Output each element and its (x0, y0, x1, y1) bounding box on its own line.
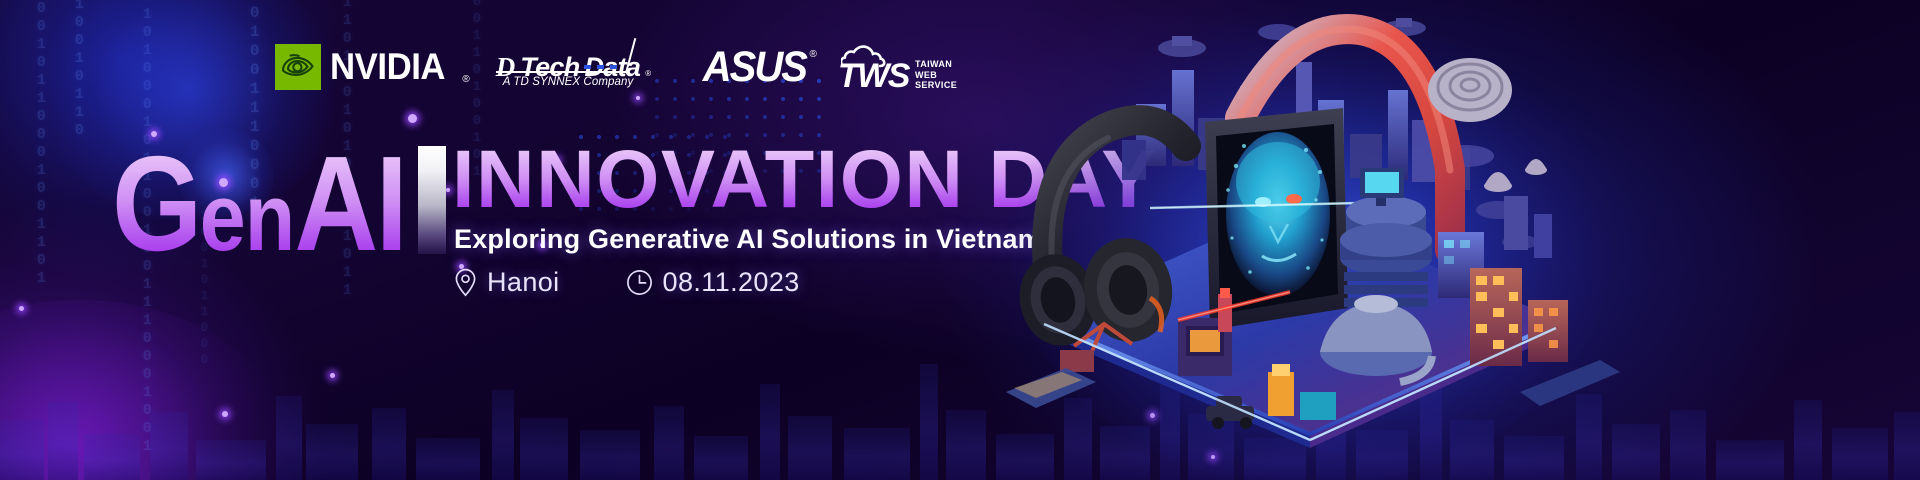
techdata-registered-mark: ® (645, 69, 651, 78)
genai-lead: G (112, 128, 200, 279)
techdata-underline (496, 71, 627, 73)
genai-brand-title: GenAI (112, 138, 405, 270)
glow-particle (19, 306, 24, 311)
genai-trail: AI (294, 128, 405, 279)
techdata-logo[interactable]: D Tech Data ® A TD SYNNEX Company (496, 38, 646, 96)
event-location: Hanoi (454, 267, 560, 298)
ai-diorama-illustration (1000, 0, 1620, 480)
genai-innovation-day-banner: 1001011000100110100100101100110100010110… (0, 0, 1920, 480)
techdata-tagline: A TD SYNNEX Company (503, 76, 634, 88)
nvidia-registered-mark: ® (462, 74, 469, 85)
date-label: 08.11.2023 (663, 267, 800, 298)
tws-tagline-line3: SERVICE (915, 80, 957, 91)
techdata-square-1 (584, 65, 591, 69)
cloud-icon (841, 42, 899, 68)
techdata-square-2 (597, 65, 604, 69)
glow-particle (330, 373, 335, 378)
techdata-square-3 (610, 65, 617, 69)
nvidia-wordmark: NVIDIA (330, 46, 445, 88)
tws-tagline: TAIWAN WEB SERVICE (915, 59, 957, 91)
binary-code-column: 10010110001001101 (34, 0, 48, 288)
map-pin-icon (454, 268, 477, 297)
asus-registered-mark: ® (810, 49, 817, 60)
asus-wordmark: ASUS (703, 43, 806, 91)
city-skyline-silhouette (0, 350, 1920, 480)
headline-group: GenAI (112, 138, 453, 270)
tws-logo[interactable]: TWS TAIWAN WEB SERVICE (838, 40, 957, 94)
event-date: 08.11.2023 (626, 267, 800, 298)
clock-icon (626, 269, 653, 296)
title-divider-bar (418, 146, 446, 254)
binary-code-column: 0010010110 (72, 0, 86, 140)
location-label: Hanoi (487, 267, 560, 298)
genai-small-caps: en (200, 164, 295, 271)
tws-tagline-line1: TAIWAN (915, 59, 957, 70)
tws-tagline-line2: WEB (915, 70, 957, 81)
asus-logo[interactable]: ASUS ® (703, 45, 806, 90)
glow-particle (408, 114, 417, 123)
nvidia-eye-icon (275, 44, 321, 90)
partner-logo-row: NVIDIA ® D Tech Data ® A TD SYNNEX Compa… (275, 36, 957, 98)
nvidia-logo[interactable]: NVIDIA ® (275, 44, 470, 90)
glow-particle (222, 411, 228, 417)
